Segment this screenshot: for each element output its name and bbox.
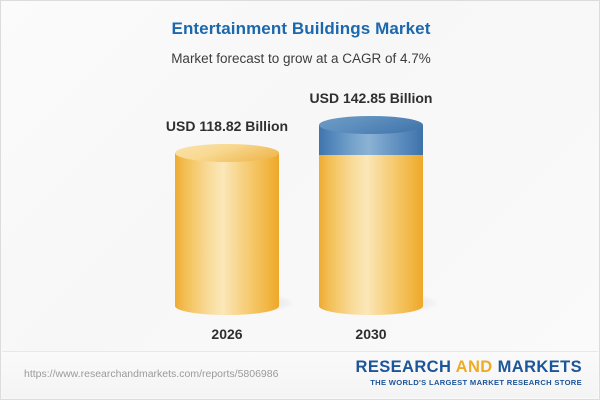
bar-group-2026: USD 118.82 Billion 2026 [175, 153, 279, 306]
cylinder-top-ellipse-2030 [319, 116, 423, 134]
cylinder-body-2026 [175, 153, 279, 306]
chart-plot-area: USD 118.82 Billion 2026 USD 142.85 Billi… [1, 1, 600, 349]
report-url[interactable]: https://www.researchandmarkets.com/repor… [24, 368, 278, 380]
brand-wordmark: RESEARCH AND MARKETS [356, 358, 583, 376]
brand-logo[interactable]: RESEARCH AND MARKETS THE WORLD'S LARGEST… [356, 358, 583, 387]
cylinder-2030 [319, 125, 423, 306]
brand-word-and: AND [456, 358, 493, 376]
cylinder-segment-base-2030 [319, 155, 423, 306]
brand-word-markets: MARKETS [493, 358, 582, 376]
bar-category-label-2026: 2026 [157, 326, 297, 342]
cylinder-segment-base-2026 [175, 153, 279, 306]
cylinder-segment-growth-2030 [319, 125, 423, 155]
cylinder-2026 [175, 153, 279, 306]
cylinder-body-base-2030 [319, 155, 423, 306]
footer: https://www.researchandmarkets.com/repor… [2, 351, 598, 398]
bar-category-label-2030: 2030 [301, 326, 441, 342]
bar-value-label-2026: USD 118.82 Billion [117, 118, 337, 134]
bar-value-label-2030: USD 142.85 Billion [261, 90, 481, 106]
bar-group-2030: USD 142.85 Billion 2030 [319, 125, 423, 306]
brand-word-research: RESEARCH [356, 358, 456, 376]
brand-tagline: THE WORLD'S LARGEST MARKET RESEARCH STOR… [356, 378, 583, 387]
cylinder-top-ellipse-2026 [175, 144, 279, 162]
market-forecast-infographic: Entertainment Buildings Market Market fo… [0, 0, 600, 400]
